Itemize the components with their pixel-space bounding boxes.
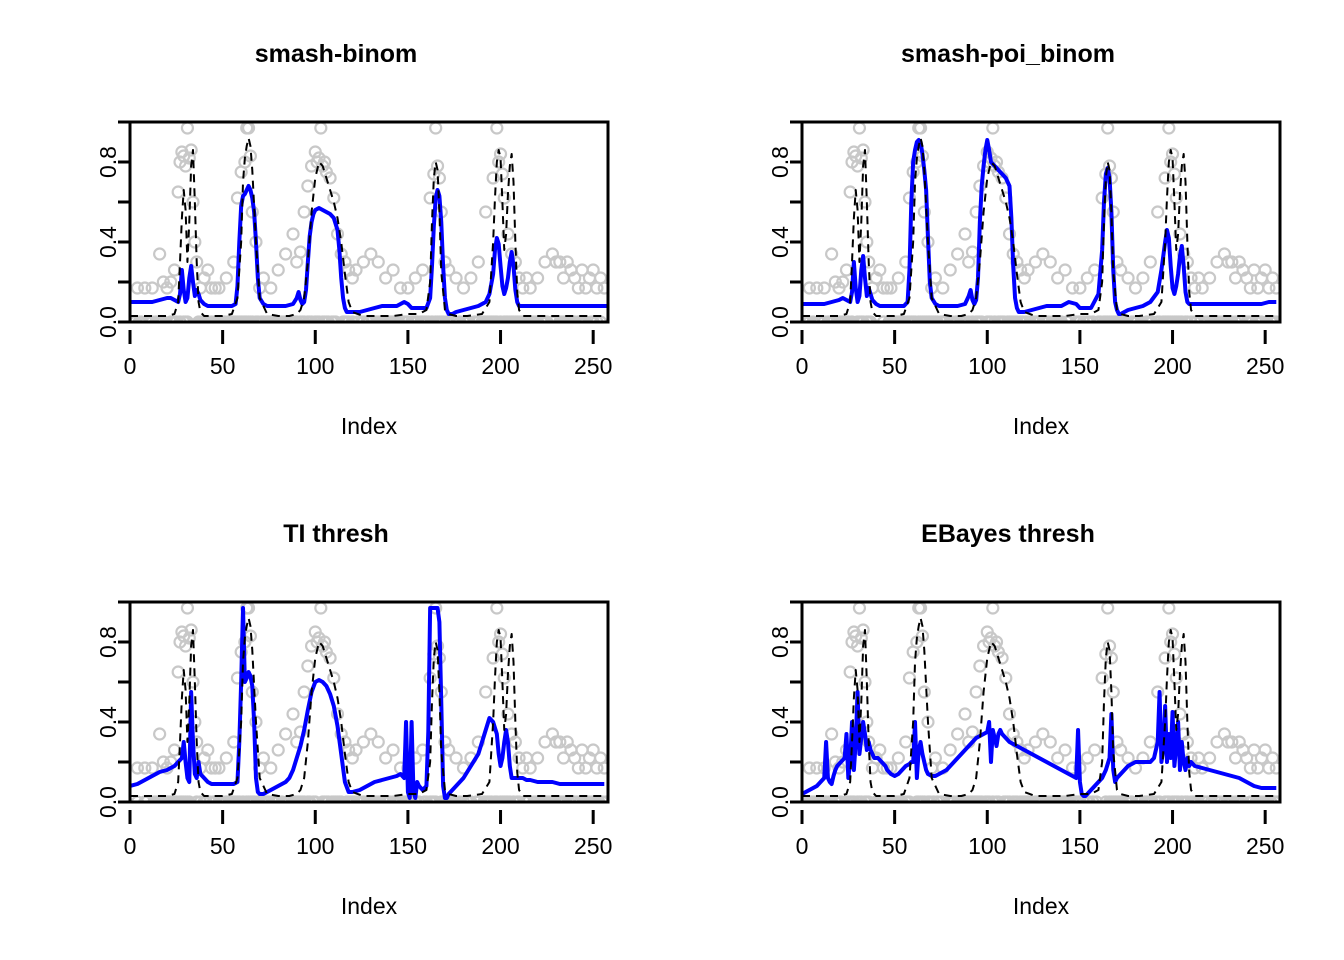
plot-content bbox=[130, 603, 612, 808]
x-axis: 050100150200250 bbox=[124, 810, 613, 859]
x-tick-label: 100 bbox=[968, 353, 1006, 379]
plot-area: 0.00.40.8050100150200250Index bbox=[0, 480, 672, 960]
y-axis: 0.00.40.8 bbox=[767, 122, 802, 338]
panel-smash-binom: smash-binom 0.00.40.8050100150200250Inde… bbox=[0, 0, 672, 480]
x-axis-title: Index bbox=[341, 413, 398, 439]
y-tick-label: 0.4 bbox=[95, 226, 121, 258]
y-tick-label: 0.0 bbox=[95, 306, 121, 338]
x-tick-label: 250 bbox=[1246, 353, 1284, 379]
x-tick-label: 200 bbox=[481, 353, 519, 379]
estimate-curve bbox=[130, 608, 604, 798]
y-tick-label: 0.8 bbox=[95, 626, 121, 658]
x-tick-label: 100 bbox=[968, 833, 1006, 859]
y-tick-label: 0.0 bbox=[767, 306, 793, 338]
y-tick-label: 0.8 bbox=[95, 146, 121, 178]
plot-box bbox=[130, 122, 608, 322]
x-axis: 050100150200250 bbox=[124, 330, 613, 379]
x-axis-title: Index bbox=[341, 893, 398, 919]
x-axis: 050100150200250 bbox=[796, 810, 1285, 859]
x-tick-label: 0 bbox=[124, 833, 137, 859]
scatter-points bbox=[132, 123, 610, 294]
panel-ti-thresh: TI thresh 0.00.40.8050100150200250Index bbox=[0, 480, 672, 960]
x-axis-title: Index bbox=[1013, 893, 1070, 919]
plot-area: 0.00.40.8050100150200250Index bbox=[0, 0, 672, 480]
x-tick-label: 0 bbox=[796, 353, 809, 379]
panel-ebayes-thresh: EBayes thresh 0.00.40.8050100150200250In… bbox=[672, 480, 1344, 960]
x-tick-label: 250 bbox=[1246, 833, 1284, 859]
x-tick-label: 150 bbox=[389, 833, 427, 859]
x-tick-label: 200 bbox=[1153, 833, 1191, 859]
y-tick-label: 0.0 bbox=[767, 786, 793, 818]
x-tick-label: 150 bbox=[389, 353, 427, 379]
x-tick-label: 250 bbox=[574, 833, 612, 859]
y-tick-label: 0.4 bbox=[95, 706, 121, 738]
x-tick-label: 100 bbox=[296, 353, 334, 379]
y-axis: 0.00.40.8 bbox=[95, 602, 130, 818]
y-tick-label: 0.8 bbox=[767, 626, 793, 658]
x-tick-label: 0 bbox=[796, 833, 809, 859]
y-tick-label: 0.4 bbox=[767, 226, 793, 258]
x-tick-label: 50 bbox=[882, 353, 908, 379]
x-tick-label: 0 bbox=[124, 353, 137, 379]
y-tick-label: 0.4 bbox=[767, 706, 793, 738]
x-axis: 050100150200250 bbox=[796, 330, 1285, 379]
x-axis-title: Index bbox=[1013, 413, 1070, 439]
x-tick-label: 50 bbox=[882, 833, 908, 859]
estimate-curve bbox=[802, 140, 1276, 314]
x-tick-label: 250 bbox=[574, 353, 612, 379]
plot-content bbox=[798, 603, 1283, 808]
x-tick-label: 150 bbox=[1061, 353, 1099, 379]
figure-canvas: smash-binom 0.00.40.8050100150200250Inde… bbox=[0, 0, 1344, 960]
x-tick-label: 100 bbox=[296, 833, 334, 859]
x-tick-label: 150 bbox=[1061, 833, 1099, 859]
plot-box bbox=[802, 122, 1280, 322]
plot-box bbox=[802, 602, 1280, 802]
plot-content bbox=[126, 123, 609, 328]
plot-area: 0.00.40.8050100150200250Index bbox=[672, 480, 1344, 960]
x-tick-label: 200 bbox=[481, 833, 519, 859]
x-tick-label: 50 bbox=[210, 833, 236, 859]
plot-area: 0.00.40.8050100150200250Index bbox=[672, 0, 1344, 480]
y-tick-label: 0.8 bbox=[767, 146, 793, 178]
y-axis: 0.00.40.8 bbox=[95, 122, 130, 338]
x-tick-label: 200 bbox=[1153, 353, 1191, 379]
y-tick-label: 0.0 bbox=[95, 786, 121, 818]
y-axis: 0.00.40.8 bbox=[767, 602, 802, 818]
panel-smash-poi-binom: smash-poi_binom 0.00.40.8050100150200250… bbox=[672, 0, 1344, 480]
scatter-points bbox=[132, 603, 610, 774]
scatter-points bbox=[804, 603, 1282, 774]
scatter-points bbox=[804, 123, 1282, 294]
x-tick-label: 50 bbox=[210, 353, 236, 379]
plot-content bbox=[798, 123, 1281, 328]
